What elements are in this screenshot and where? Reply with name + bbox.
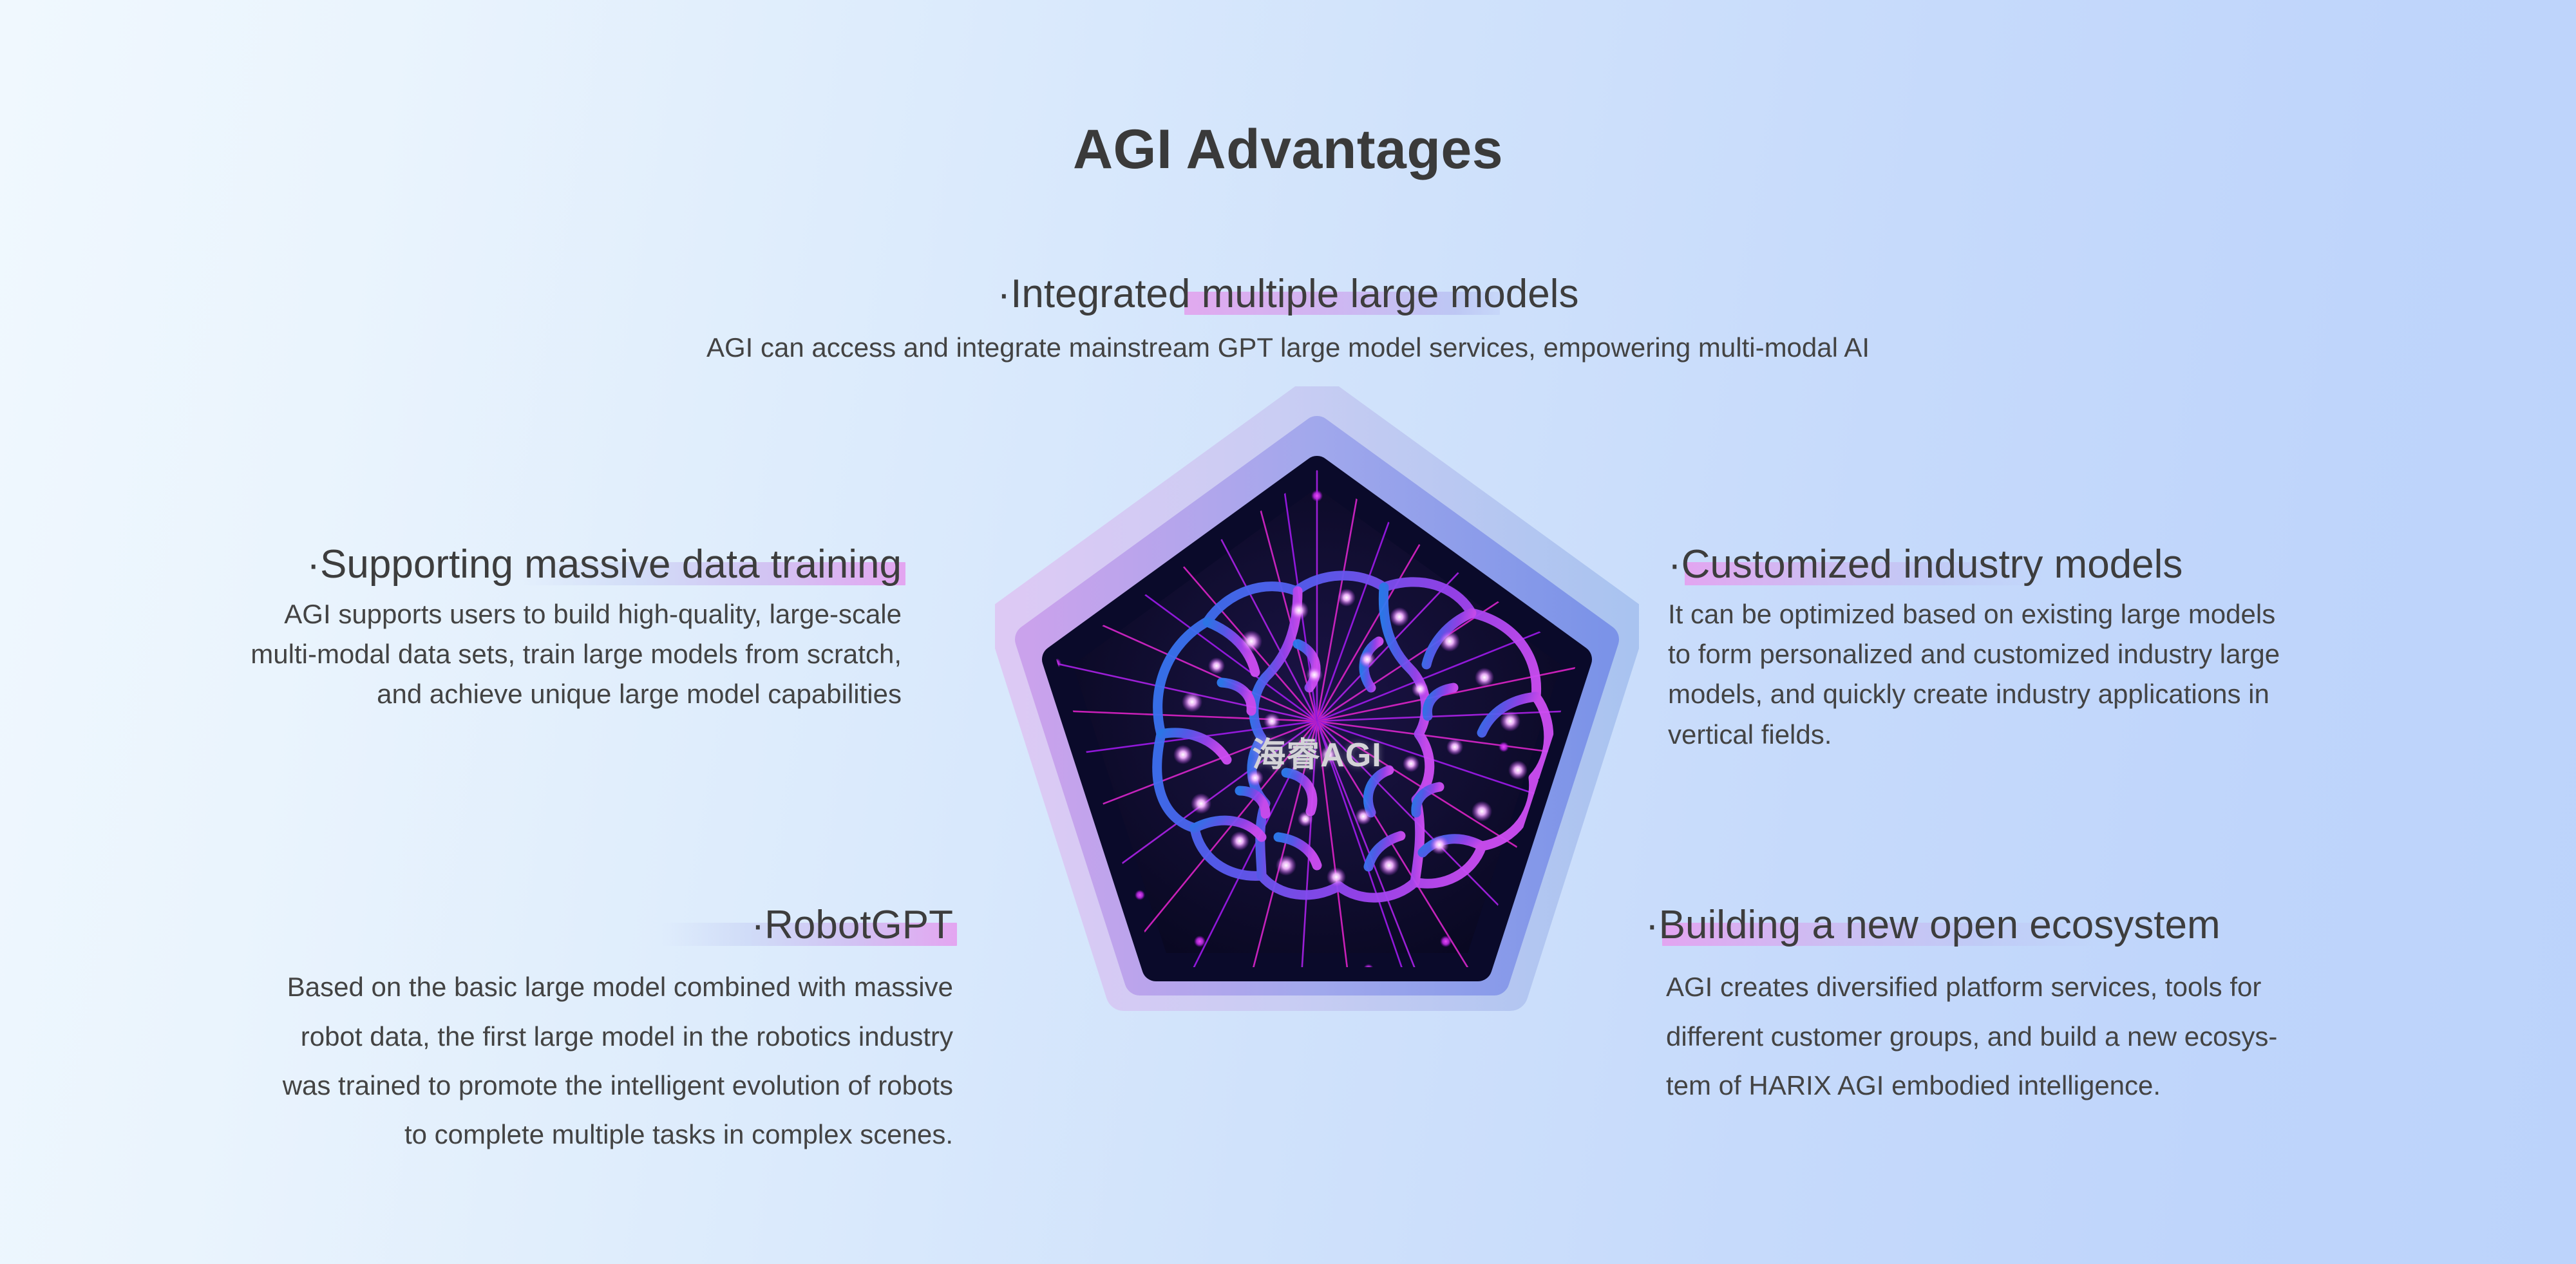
body-line: models, and quickly create industry appl… (1668, 674, 2531, 714)
section-body: AGI can access and integrate mainstream … (0, 328, 2576, 368)
section-customized-industry-models: ·Customized industry models It can be op… (1668, 541, 2531, 755)
body-line: and achieve unique large model capabilit… (71, 674, 902, 714)
agi-pentagon-graphic: 海睿AGI (995, 386, 1639, 1120)
section-integrated-multiple-large-models: ·Integrated multiple large models AGI ca… (0, 270, 2576, 368)
pentagon-svg (995, 386, 1639, 1120)
bullet-icon: · (751, 903, 764, 947)
body-line: AGI creates diversified platform service… (1666, 963, 2508, 1012)
body-line: different customer groups, and build a n… (1666, 1012, 2508, 1061)
section-heading: ·Integrated multiple large models (998, 270, 1579, 317)
page-title: AGI Advantages (0, 119, 2576, 180)
body-line: to complete multiple tasks in complex sc… (71, 1110, 953, 1159)
body-line: to form personalized and customized indu… (1668, 634, 2531, 674)
section-heading: ·Supporting massive data training (307, 541, 902, 588)
section-body: AGI supports users to build high-quality… (71, 594, 902, 714)
section-robotgpt: ·RobotGPT Based on the basic large model… (71, 901, 953, 1160)
body-line: multi-modal data sets, train large model… (71, 634, 902, 674)
section-heading-text: Customized industry models (1681, 542, 2183, 587)
section-supporting-massive-data-training: ·Supporting massive data training AGI su… (71, 541, 902, 715)
section-body: Based on the basic large model combined … (71, 963, 953, 1160)
bullet-icon: · (998, 272, 1011, 316)
section-body: It can be optimized based on existing la… (1668, 594, 2531, 755)
body-line: It can be optimized based on existing la… (1668, 594, 2531, 634)
section-heading-text: RobotGPT (764, 903, 953, 947)
section-heading: ·Customized industry models (1668, 541, 2183, 588)
bullet-icon: · (1645, 903, 1659, 947)
section-heading: ·RobotGPT (751, 901, 953, 948)
section-heading-text: Supporting massive data training (320, 542, 902, 587)
section-heading-text: Building a new open ecosystem (1659, 903, 2221, 947)
section-body: AGI creates diversified platform service… (1645, 963, 2508, 1110)
section-heading: ·Building a new open ecosystem (1645, 901, 2221, 948)
body-line: vertical fields. (1668, 715, 2531, 755)
bullet-icon: · (1668, 542, 1681, 587)
bullet-icon: · (307, 542, 320, 587)
body-line: tem of HARIX AGI embodied intelligence. (1666, 1061, 2508, 1110)
body-line: robot data, the first large model in the… (71, 1012, 953, 1061)
body-line: AGI supports users to build high-quality… (71, 594, 902, 634)
body-line: was trained to promote the intelligent e… (71, 1061, 953, 1110)
section-heading-text: Integrated multiple large models (1010, 272, 1578, 316)
body-line: Based on the basic large model combined … (71, 963, 953, 1012)
section-building-a-new-open-ecosystem: ·Building a new open ecosystem AGI creat… (1645, 901, 2508, 1110)
